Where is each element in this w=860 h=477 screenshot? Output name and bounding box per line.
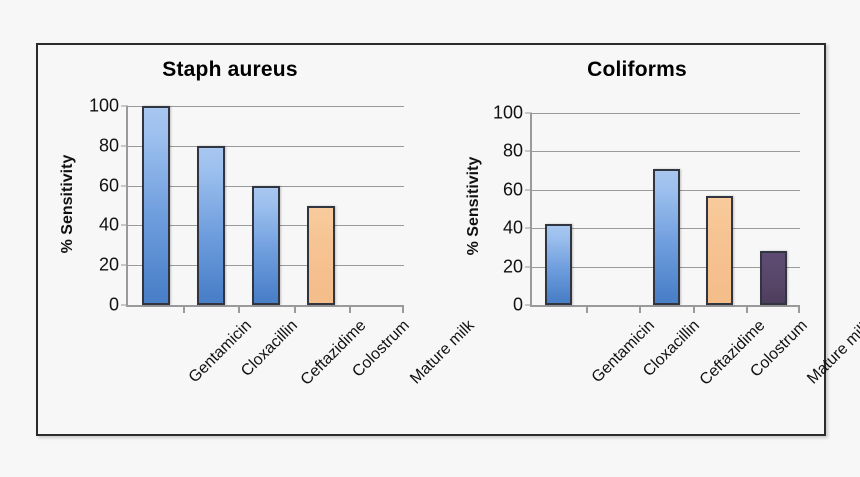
figure-frame: Staph aureus % Sensitivity 100806040200 … [36, 43, 826, 436]
y-tick-label: 20 [99, 255, 119, 276]
chart-panel-staph-aureus: Staph aureus % Sensitivity 100806040200 … [38, 45, 438, 434]
chart-title: Coliforms [442, 58, 832, 82]
y-tick-mark [525, 266, 532, 267]
bar [653, 169, 680, 305]
bar-group [128, 106, 404, 305]
bar [307, 206, 335, 306]
bar [142, 106, 170, 305]
bar [760, 251, 787, 305]
y-tick-mark [121, 305, 128, 306]
y-tick-label: 40 [503, 218, 523, 239]
y-tick-mark [121, 106, 128, 107]
bar [545, 224, 572, 305]
x-axis-labels: GentamicinCloxacillinCeftazidimeColostru… [532, 305, 800, 425]
bar [197, 146, 225, 305]
y-tick-mark [525, 113, 532, 114]
bar [706, 196, 733, 305]
y-tick-label: 20 [503, 256, 523, 277]
y-tick-mark [525, 305, 532, 306]
y-tick-label: 0 [513, 295, 523, 316]
y-tick-label: 60 [99, 175, 119, 196]
plot-area: 100806040200 GentamicinCloxacillinCeftaz… [126, 106, 404, 307]
y-tick-label: 60 [503, 179, 523, 200]
y-tick-label: 40 [99, 215, 119, 236]
y-tick-mark [121, 265, 128, 266]
y-tick-mark [525, 189, 532, 190]
y-tick-label: 0 [109, 295, 119, 316]
y-tick-mark [121, 185, 128, 186]
y-tick-label: 80 [99, 135, 119, 156]
y-tick-label: 100 [493, 103, 523, 124]
y-tick-label: 80 [503, 141, 523, 162]
y-axis-title: % Sensitivity [465, 146, 483, 266]
x-axis-label: Mature milk [804, 317, 860, 388]
x-axis-label: Gentamicin [186, 317, 256, 387]
y-axis-title: % Sensitivity [59, 144, 77, 264]
bar-group [532, 113, 800, 305]
y-tick-mark [525, 228, 532, 229]
bar [252, 186, 280, 305]
y-tick-label: 100 [89, 96, 119, 117]
y-tick-mark [525, 151, 532, 152]
y-tick-mark [121, 225, 128, 226]
chart-panel-coliforms: Coliforms % Sensitivity 100806040200 Gen… [438, 45, 828, 434]
x-axis-labels: GentamicinCloxacillinCeftazidimeColostru… [128, 305, 404, 425]
plot-area: 100806040200 GentamicinCloxacillinCeftaz… [530, 113, 800, 307]
chart-title: Staph aureus [30, 58, 430, 82]
y-tick-mark [121, 145, 128, 146]
